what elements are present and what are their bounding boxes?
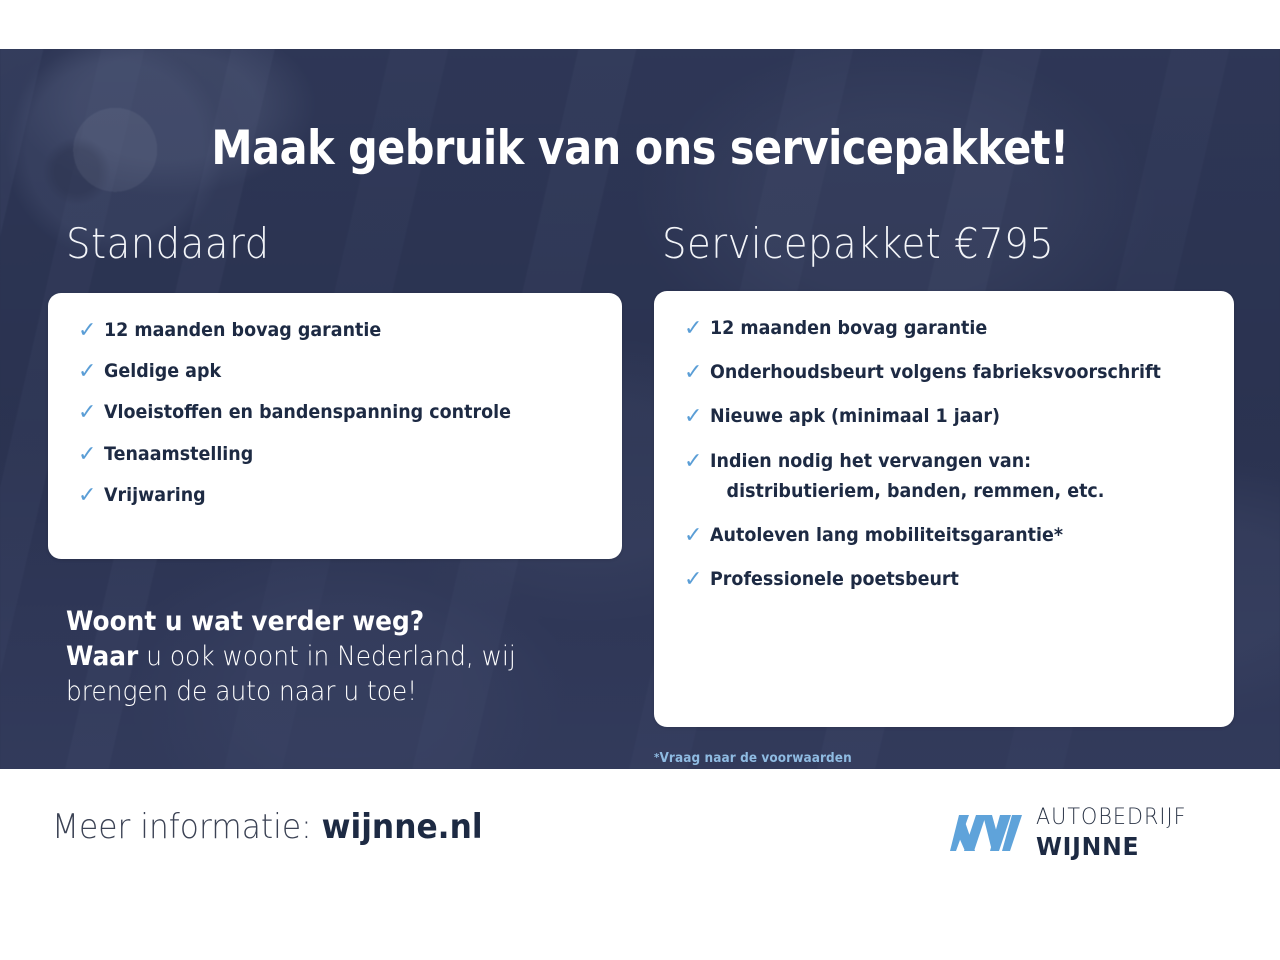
feature-label: Geldige apk — [104, 360, 221, 383]
promo-page: Maak gebruik van ons servicepakket! Stan… — [0, 0, 1280, 960]
list-item: ✓ 12 maanden bovag garantie — [684, 317, 1204, 340]
website-link[interactable]: wijnne.nl — [322, 807, 483, 847]
page-title: Maak gebruik van ons servicepakket! — [77, 121, 1203, 176]
servicepakket-heading: Servicepakket €795 — [662, 219, 1054, 268]
conditions-footnote-text: Vraag naar de voorwaarden — [659, 751, 851, 766]
check-icon: ✓ — [78, 444, 96, 466]
check-icon: ✓ — [684, 569, 702, 591]
feature-label: Vloeistoffen en bandenspanning controle — [104, 401, 511, 424]
check-icon: ✓ — [684, 318, 702, 340]
feature-label-main: Indien nodig het vervangen van: — [710, 450, 1031, 472]
wijnne-logo-mark-icon — [950, 809, 1022, 857]
check-icon: ✓ — [684, 451, 702, 473]
feature-label: Vrijwaring — [104, 484, 206, 507]
check-icon: ✓ — [78, 485, 96, 507]
list-item: ✓ 12 maanden bovag garantie — [78, 319, 592, 342]
check-icon: ✓ — [684, 362, 702, 384]
feature-label: Autoleven lang mobiliteitsgarantie* — [710, 524, 1063, 547]
check-icon: ✓ — [78, 320, 96, 342]
delivery-body: Waar u ook woont in Nederland, wij breng… — [66, 639, 581, 709]
check-icon: ✓ — [684, 525, 702, 547]
footer-bar: Meer informatie: wijnne.nl AUTOBEDRIJF W… — [0, 769, 1280, 960]
list-item: ✓ Tenaamstelling — [78, 443, 592, 466]
check-icon: ✓ — [684, 406, 702, 428]
servicepakket-features-card: ✓ 12 maanden bovag garantie ✓ Onderhouds… — [654, 291, 1234, 727]
delivery-question: Woont u wat verder weg? — [66, 604, 581, 639]
list-item: ✓ Indien nodig het vervangen van:distrib… — [684, 450, 1204, 503]
delivery-note: Woont u wat verder weg? Waar u ook woont… — [66, 604, 581, 709]
hero-section: Maak gebruik van ons servicepakket! Stan… — [0, 49, 1280, 769]
feature-label: Tenaamstelling — [104, 443, 253, 466]
standard-heading: Standaard — [66, 219, 270, 268]
feature-label: Indien nodig het vervangen van:distribut… — [710, 450, 1104, 503]
feature-label: Onderhoudsbeurt volgens fabrieksvoorschr… — [710, 361, 1161, 384]
more-info-label: Meer informatie: — [52, 807, 322, 847]
list-item: ✓ Vloeistoffen en bandenspanning control… — [78, 401, 592, 424]
list-item: ✓ Onderhoudsbeurt volgens fabrieksvoorsc… — [684, 361, 1204, 384]
list-item: ✓ Nieuwe apk (minimaal 1 jaar) — [684, 405, 1204, 428]
feature-label: Nieuwe apk (minimaal 1 jaar) — [710, 405, 1000, 428]
check-icon: ✓ — [78, 361, 96, 383]
list-item: ✓ Professionele poetsbeurt — [684, 568, 1204, 591]
feature-label: 12 maanden bovag garantie — [710, 317, 987, 340]
delivery-lead: Waar — [66, 641, 138, 672]
feature-label: Professionele poetsbeurt — [710, 568, 959, 591]
conditions-footnote: *Vraag naar de voorwaarden — [654, 751, 852, 766]
check-icon: ✓ — [78, 402, 96, 424]
list-item: ✓ Geldige apk — [78, 360, 592, 383]
feature-label-continuation: distributieriem, banden, remmen, etc. — [710, 480, 1104, 503]
more-info-line: Meer informatie: wijnne.nl — [52, 807, 483, 847]
list-item: ✓ Vrijwaring — [78, 484, 592, 507]
list-item: ✓ Autoleven lang mobiliteitsgarantie* — [684, 524, 1204, 547]
logo-wordmark: AUTOBEDRIJF WIJNNE — [1036, 807, 1196, 859]
logo-top-line: AUTOBEDRIJF — [1036, 807, 1187, 829]
feature-label: 12 maanden bovag garantie — [104, 319, 381, 342]
logo-bottom-line: WIJNNE — [1036, 834, 1187, 859]
standard-features-card: ✓ 12 maanden bovag garantie ✓ Geldige ap… — [48, 293, 622, 559]
brand-logo[interactable]: AUTOBEDRIJF WIJNNE — [950, 807, 1196, 859]
